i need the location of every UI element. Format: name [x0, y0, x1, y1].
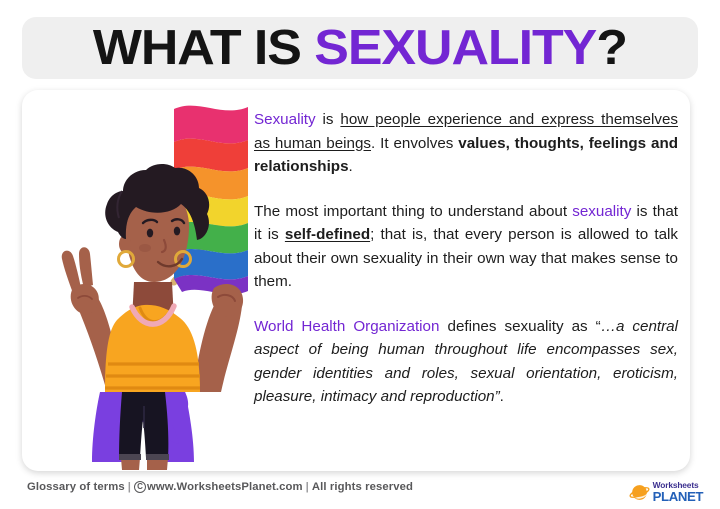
paragraph-2: The most important thing to understand a…	[254, 200, 678, 294]
paragraph-3: World Health Organization defines sexual…	[254, 315, 678, 409]
title-part-question: ?	[596, 21, 627, 75]
footer-separator-2: |	[303, 481, 312, 493]
p2-emphasis-self-defined: self-defined	[285, 226, 370, 243]
legs	[119, 454, 169, 470]
footer-credit-line: Glossary of terms|Cwww.WorksheetsPlanet.…	[27, 481, 413, 493]
person-waving-pride-flag-illustration	[22, 92, 258, 470]
p2-run-0: The most important thing to understand a…	[254, 203, 572, 220]
title-banner: WHAT IS SEXUALITY?	[22, 17, 698, 79]
worksheets-planet-logo[interactable]: Worksheets PLANET	[629, 478, 703, 506]
orange-tank-top	[105, 305, 200, 392]
footer-separator-1: |	[125, 481, 134, 493]
p3-source-who: World Health Organization	[254, 318, 439, 335]
content-card: Sexuality is how people experience and e…	[22, 90, 690, 471]
term-sexuality: Sexuality	[254, 111, 316, 128]
footer-glossary-label: Glossary of terms	[27, 481, 125, 493]
definition-text-column: Sexuality is how people experience and e…	[254, 108, 678, 456]
planet-mark-icon	[629, 482, 650, 503]
p1-run-1: is	[316, 111, 341, 128]
title-part-dark: WHAT IS	[93, 21, 314, 75]
p3-run-1: defines sexuality as “	[439, 318, 600, 335]
right-arm	[193, 284, 243, 392]
title-part-accent: SEXUALITY	[314, 21, 596, 75]
p1-run-3: . It envolves	[371, 135, 458, 152]
p2-term-sexuality: sexuality	[572, 203, 631, 220]
brand-wordmark: Worksheets PLANET	[653, 481, 703, 503]
p3-run-3: .	[500, 388, 504, 405]
paragraph-1: Sexuality is how people experience and e…	[254, 108, 678, 179]
infographic-page: WHAT IS SEXUALITY?	[0, 0, 720, 509]
brand-name-bottom: PLANET	[653, 490, 703, 503]
copyright-icon: C	[134, 481, 146, 493]
dark-shorts	[119, 392, 168, 458]
footer-rights: All rights reserved	[312, 481, 413, 493]
footer-website: www.WorksheetsPlanet.com	[147, 481, 303, 493]
p1-run-5: .	[349, 158, 353, 175]
footer-bar: Glossary of terms|Cwww.WorksheetsPlanet.…	[0, 476, 720, 509]
page-title: WHAT IS SEXUALITY?	[93, 24, 627, 73]
